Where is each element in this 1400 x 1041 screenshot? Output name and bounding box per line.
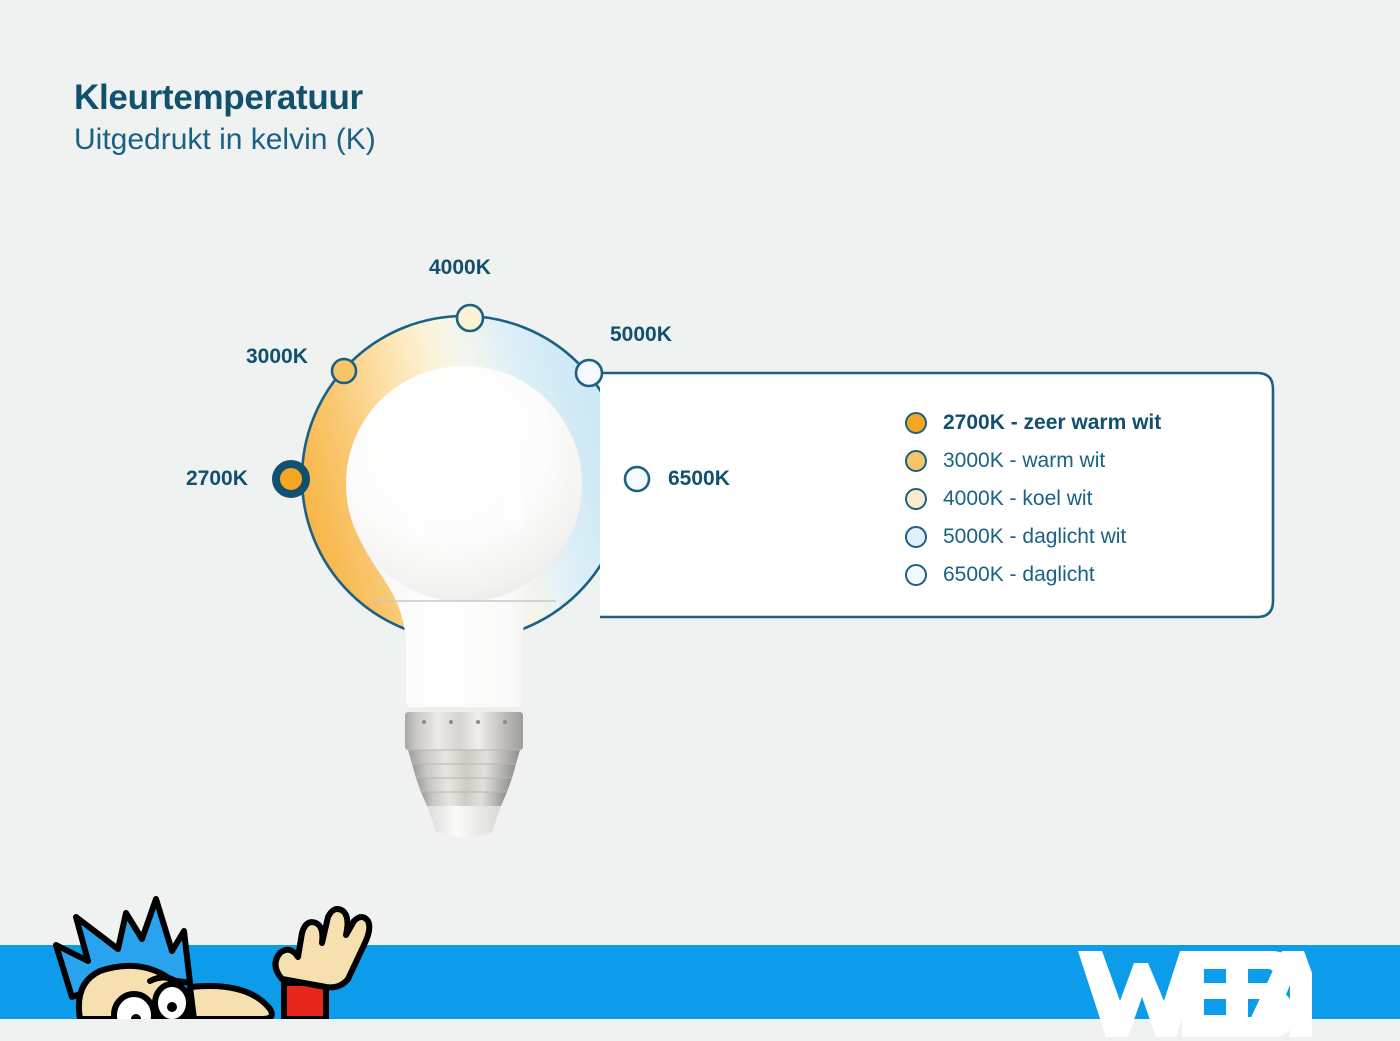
legend-swatch-icon xyxy=(905,564,927,586)
legend-swatch-icon xyxy=(905,450,927,472)
marker-4000k[interactable] xyxy=(457,305,483,331)
base-dimple-4 xyxy=(503,720,507,724)
base-dimple-1 xyxy=(422,720,426,724)
marker-6500k[interactable] xyxy=(625,467,649,491)
legend-item-6500k[interactable]: 6500K - daglicht xyxy=(905,556,1161,594)
wheel-label-2700k: 2700K xyxy=(186,467,248,491)
legend-item-label: 5000K - daglicht wit xyxy=(943,525,1126,549)
wheel-label-3000k: 3000K xyxy=(246,345,308,369)
legend-swatch-icon xyxy=(905,526,927,548)
marker-3000k[interactable] xyxy=(332,359,356,383)
legend-swatch-icon xyxy=(905,488,927,510)
legend-swatch-icon xyxy=(905,412,927,434)
legend-item-5000k[interactable]: 5000K - daglicht wit xyxy=(905,518,1161,556)
legend-item-2700k[interactable]: 2700K - zeer warm wit xyxy=(905,404,1161,442)
legend-item-label: 4000K - koel wit xyxy=(943,487,1092,511)
legend-list: 2700K - zeer warm wit 3000K - warm wit 4… xyxy=(905,404,1161,594)
legend-item-3000k[interactable]: 3000K - warm wit xyxy=(905,442,1161,480)
wheel-label-6500k: 6500K xyxy=(668,467,730,491)
bulb-tip xyxy=(427,806,501,837)
marker-5000k[interactable] xyxy=(576,360,602,386)
diagram-canvas xyxy=(0,0,1400,1019)
wheel-label-5000k: 5000K xyxy=(610,323,672,347)
mascot-icon xyxy=(14,887,374,1019)
legend-item-label: 3000K - warm wit xyxy=(943,449,1105,473)
legend-item-label: 2700K - zeer warm wit xyxy=(943,411,1161,435)
bulb-screw-threads xyxy=(408,750,520,806)
bulb-highlight-left xyxy=(405,469,431,541)
bulb-sheen xyxy=(404,384,528,456)
bulb-highlight-right xyxy=(502,471,526,539)
bulb-metal-band xyxy=(405,712,523,750)
marker-2700k[interactable] xyxy=(276,464,306,494)
base-dimple-2 xyxy=(449,720,453,724)
color-temperature-diagram: 2700K 3000K 4000K 5000K 6500K 2700K - ze… xyxy=(0,0,1400,1019)
legend-item-4000k[interactable]: 4000K - koel wit xyxy=(905,480,1161,518)
led-bulb xyxy=(346,366,582,837)
wheel-label-4000k: 4000K xyxy=(429,256,491,280)
legend-item-label: 6500K - daglicht xyxy=(943,563,1095,587)
weba-logo xyxy=(1076,945,1312,1041)
base-dimple-3 xyxy=(476,720,480,724)
